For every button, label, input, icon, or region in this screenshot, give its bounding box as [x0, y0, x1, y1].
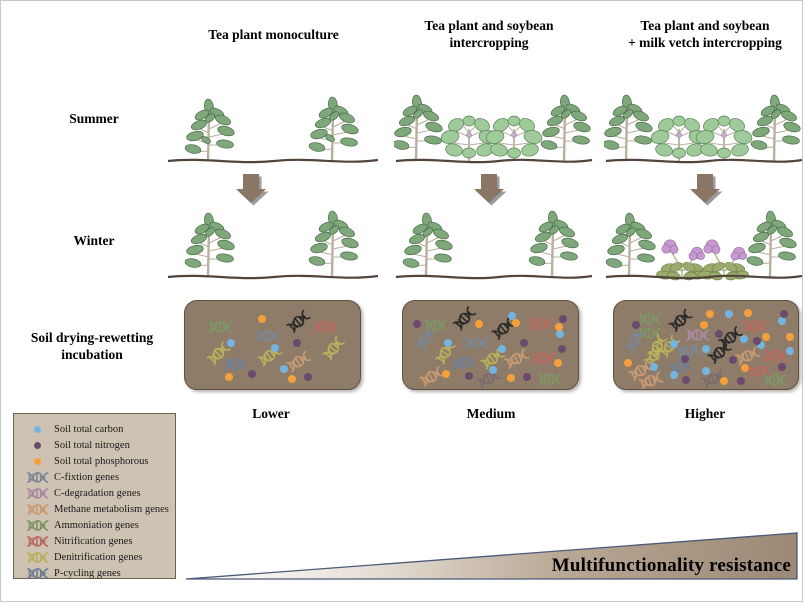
ground-line — [396, 160, 592, 162]
legend-label: Soil total phosphorous — [52, 456, 149, 467]
methane-metabolism-gene-icon — [453, 307, 476, 331]
dot-icon — [22, 442, 52, 449]
tea-plant-icon — [308, 96, 359, 161]
dna-icon — [22, 551, 52, 564]
column-header-milkvetch: Tea plant and soybean + milk vetch inter… — [609, 17, 801, 51]
column-header-soybean-line1: Tea plant and soybean — [399, 17, 579, 34]
tea-plant-icon — [605, 212, 656, 277]
c-fixtion-gene-icon — [465, 338, 488, 348]
legend-item-soil-total-nitrogen: Soil total nitrogen — [22, 437, 169, 453]
tea-plant-icon — [184, 212, 235, 277]
gene-icons-group — [416, 307, 562, 389]
soil-box-milkvetch — [613, 300, 799, 390]
ammoniation-gene-icon — [638, 314, 661, 324]
legend-box: Soil total carbon Soil total nitrogen So… — [13, 413, 176, 579]
nitrification-gene-icon — [744, 321, 768, 331]
methane-metabolism-gene-icon — [504, 349, 529, 368]
ground-line — [396, 276, 592, 278]
column-header-monoculture-line1: Tea plant monoculture — [208, 27, 339, 42]
dna-icon — [22, 567, 52, 580]
dna-icon — [22, 519, 52, 532]
tea-plant-icon — [184, 98, 235, 161]
multifunctionality-resistance-label: Multifunctionality resistance — [552, 555, 791, 577]
soil-box-milkvetch-svg — [614, 301, 798, 389]
soil-box-monoculture-svg — [185, 301, 360, 389]
soybean-plant-icon — [485, 116, 543, 161]
soybean-plant-icon — [695, 116, 753, 161]
legend-label: Methane metabolism genes — [52, 504, 169, 515]
legend-label: C-degradation genes — [52, 488, 141, 499]
summer-scene-monoculture — [166, 73, 381, 169]
winter-scene-monoculture — [166, 205, 381, 283]
nutrient-dots-group — [225, 315, 312, 383]
milk-vetch-flower-icon — [704, 240, 747, 260]
soil-total-carbon-dot — [227, 339, 235, 347]
winter-scene-soybean-svg — [394, 205, 594, 283]
nitrification-gene-icon — [748, 365, 772, 378]
row-label-summer-text: Summer — [69, 111, 119, 126]
legend-item-nitrification-genes: Nitrification genes — [22, 533, 169, 549]
row-label-summer: Summer — [19, 110, 169, 127]
soil-box-soybean-svg — [403, 301, 578, 389]
winter-scene-monoculture-svg — [166, 205, 381, 283]
nitrification-gene-icon — [532, 353, 556, 363]
legend-label: Nitrification genes — [52, 536, 132, 547]
row-label-incubation-line2: incubation — [6, 346, 178, 363]
ground-line — [168, 276, 378, 278]
methane-metabolism-gene-icon — [286, 351, 311, 372]
soil-total-phosphorous-dot — [258, 315, 266, 323]
summer-scene-soybean — [394, 73, 594, 169]
winter-scene-soybean — [394, 205, 594, 283]
p-cycling-gene-icon — [452, 356, 476, 369]
soil-box-soybean — [402, 300, 579, 390]
ammoniation-gene-icon — [209, 322, 233, 332]
tea-plant-icon — [394, 94, 443, 161]
denitrification-gene-icon — [323, 336, 345, 360]
column-header-milkvetch-line2: + milk vetch intercropping — [609, 34, 801, 51]
ammoniation-gene-icon — [763, 375, 786, 385]
row-label-incubation: Soil drying-rewetting incubation — [6, 329, 178, 363]
dot-icon — [22, 458, 52, 465]
tea-plant-icon — [540, 94, 591, 161]
tea-plant-icon — [750, 94, 801, 161]
tea-plant-icon — [402, 212, 453, 277]
dna-icon — [22, 535, 52, 548]
level-label-monoculture: Lower — [201, 406, 341, 422]
legend-item-c-fixtion-genes: C-fixtion genes — [22, 469, 169, 485]
column-header-soybean-line2: intercropping — [399, 34, 579, 51]
nitrification-gene-icon — [764, 351, 788, 361]
column-header-soybean: Tea plant and soybean intercropping — [399, 17, 579, 51]
legend-label: P-cycling genes — [52, 568, 121, 579]
legend-item-soil-total-carbon: Soil total carbon — [22, 421, 169, 437]
legend-item-c-degradation-genes: C-degradation genes — [22, 485, 169, 501]
level-label-monoculture-text: Lower — [252, 406, 290, 421]
c-degradation-gene-icon — [686, 330, 709, 340]
tea-plant-icon — [604, 94, 653, 161]
dna-icon — [22, 503, 52, 516]
ammoniation-gene-icon — [538, 374, 561, 384]
row-label-incubation-line1: Soil drying-rewetting — [6, 329, 178, 346]
column-header-milkvetch-line1: Tea plant and soybean — [609, 17, 801, 34]
column-header-monoculture: Tea plant monoculture — [181, 26, 366, 43]
soil-box-monoculture — [184, 300, 361, 390]
dot-icon — [22, 426, 52, 433]
legend-item-soil-total-phosphorous: Soil total phosphorous — [22, 453, 169, 469]
methane-metabolism-gene-icon — [669, 309, 693, 332]
summer-scene-milkvetch — [604, 73, 804, 169]
legend-item-p-cycling-genes: P-cycling genes — [22, 565, 169, 581]
winter-scene-milkvetch — [604, 205, 804, 283]
tea-plant-icon — [308, 210, 359, 277]
level-label-soybean-text: Medium — [467, 406, 516, 421]
ammoniation-gene-icon — [424, 320, 447, 330]
winter-scene-milkvetch-svg — [604, 205, 804, 283]
tea-plant-icon — [528, 210, 579, 277]
milk-vetch-plant-icon — [698, 240, 749, 281]
nitrification-gene-icon — [314, 322, 338, 332]
multifunctionality-gradient-bar: Multifunctionality resistance — [184, 531, 799, 583]
methane-metabolism-gene-icon — [735, 347, 760, 365]
summer-scene-monoculture-svg — [166, 73, 381, 169]
tea-plant-icon — [746, 210, 797, 277]
nitrification-gene-icon — [529, 319, 553, 329]
legend-label: Denitrification genes — [52, 552, 142, 563]
c-fixtion-gene-icon — [257, 331, 279, 341]
legend-label: Ammoniation genes — [52, 520, 139, 531]
legend-label: C-fixtion genes — [52, 472, 119, 483]
c-degradation-gene-icon — [476, 369, 501, 388]
legend-item-ammoniation-genes: Ammoniation genes — [22, 517, 169, 533]
legend-item-denitrification-genes: Denitrification genes — [22, 549, 169, 565]
dna-icon — [22, 487, 52, 500]
methane-metabolism-gene-icon — [719, 327, 743, 349]
methane-metabolism-gene-icon — [287, 310, 311, 333]
methane-metabolism-gene-icon — [492, 317, 516, 339]
summer-scene-milkvetch-svg — [604, 73, 804, 169]
multifunctionality-resistance-text: Multifunctionality resistance — [552, 555, 791, 576]
p-cycling-gene-icon — [224, 359, 247, 369]
milk-vetch-flower-icon — [662, 240, 705, 260]
figure-canvas: Tea plant monoculture Tea plant and soyb… — [0, 0, 803, 602]
ground-line — [606, 160, 802, 162]
soil-total-nitrogen-dot — [248, 370, 256, 378]
legend-label: Soil total nitrogen — [52, 440, 130, 451]
legend-item-methane-metabolism-genes: Methane metabolism genes — [22, 501, 169, 517]
level-label-milkvetch-text: Higher — [685, 406, 726, 421]
legend-label: Soil total carbon — [52, 424, 123, 435]
level-label-milkvetch: Higher — [635, 406, 775, 422]
methane-metabolism-gene-icon — [708, 341, 732, 363]
row-label-winter: Winter — [19, 232, 169, 249]
summer-scene-soybean-svg — [394, 73, 594, 169]
level-label-soybean: Medium — [421, 406, 561, 422]
c-fixtion-gene-icon — [677, 344, 702, 358]
row-label-winter-text: Winter — [74, 233, 115, 248]
ground-line — [168, 160, 378, 162]
dna-icon — [22, 471, 52, 484]
methane-metabolism-gene-icon — [419, 367, 444, 387]
